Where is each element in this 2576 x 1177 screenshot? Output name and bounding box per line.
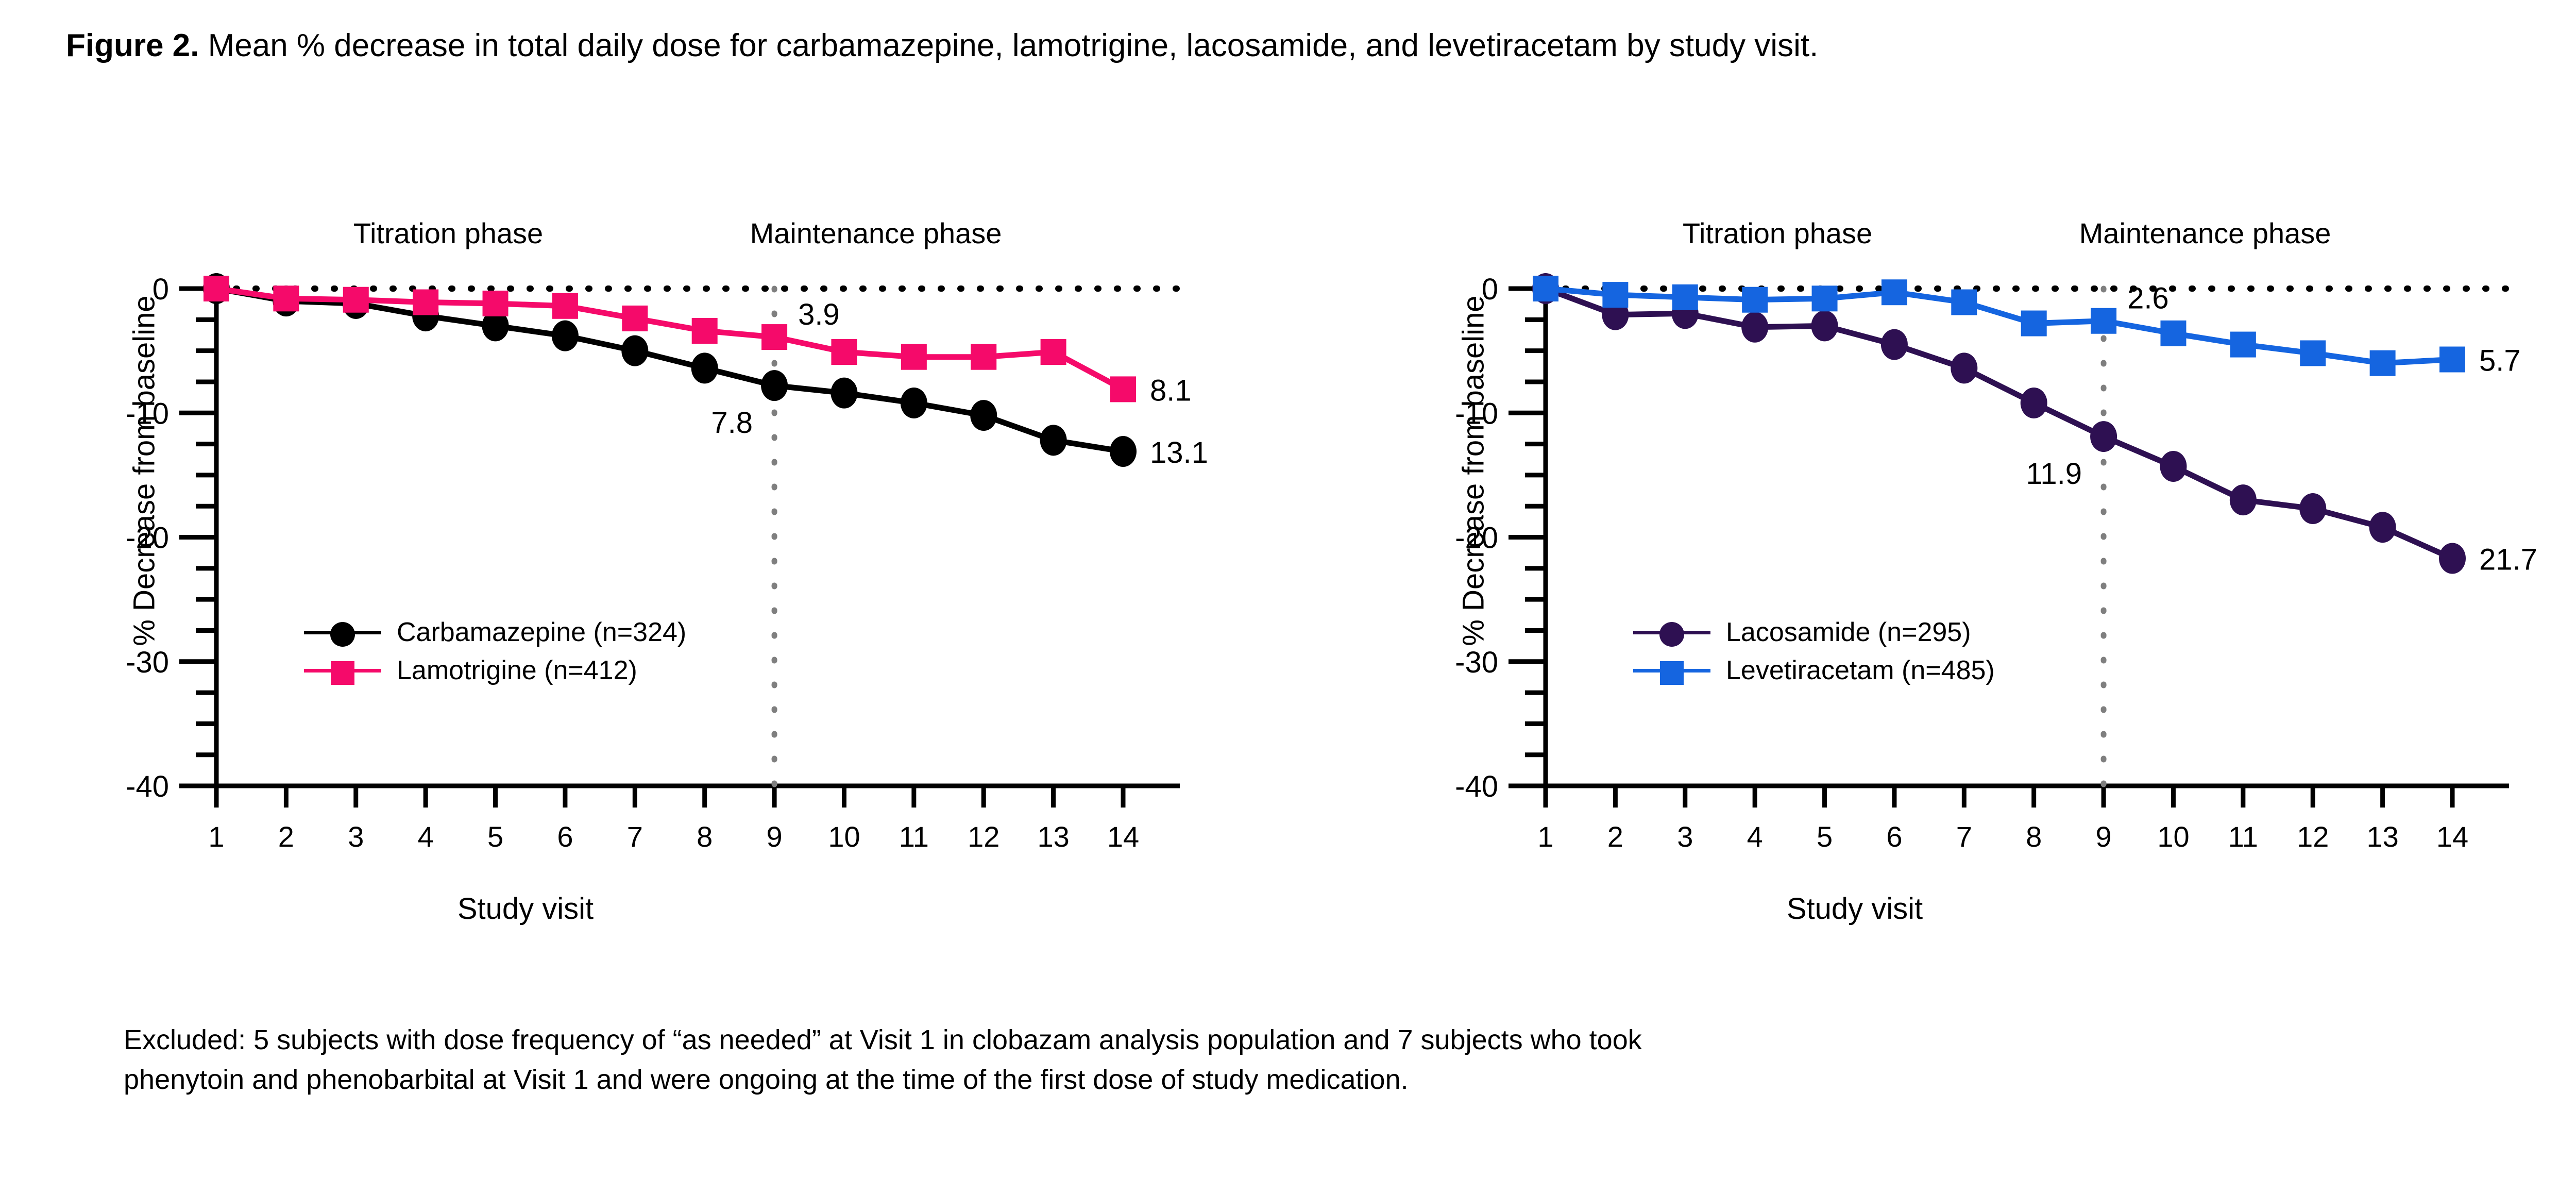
data-point-marker: [273, 285, 299, 311]
data-point-marker: [1741, 312, 1768, 343]
x-tick-label: 4: [1747, 820, 1763, 853]
y-tick-label: -40: [126, 770, 169, 803]
data-point-marker: [692, 318, 718, 344]
x-tick-label: 12: [968, 820, 999, 853]
data-point-marker: [761, 370, 788, 401]
footnote: Excluded: 5 subjects with dose frequency…: [124, 1020, 2494, 1099]
data-point-marker: [2439, 543, 2466, 574]
data-point-marker: [2300, 340, 2326, 366]
line-chart-right: 0-10-20-30-4012345678910111213142.611.95…: [1391, 216, 2576, 912]
data-point-marker: [1041, 339, 1066, 365]
data-point-marker: [2370, 350, 2396, 376]
data-point-marker: [2230, 484, 2257, 515]
x-tick-label: 2: [1607, 820, 1623, 853]
legend-label-lacosamide: Lacosamide (n=295): [1726, 617, 1971, 648]
data-point-marker: [2021, 311, 2047, 337]
data-point-marker: [901, 388, 927, 418]
x-tick-label: 14: [2436, 820, 2468, 853]
figure-caption-text: Mean % decrease in total daily dose for …: [199, 28, 1818, 63]
x-tick-label: 3: [1677, 820, 1693, 853]
data-point-marker: [2439, 347, 2465, 373]
y-tick-label: -20: [1455, 522, 1498, 555]
legend-label-lamotrigine: Lamotrigine (n=412): [397, 655, 637, 686]
data-point-marker: [413, 290, 438, 315]
x-tick-label: 12: [2297, 820, 2329, 853]
x-tick-label: 1: [1537, 820, 1553, 853]
data-point-marker: [343, 287, 369, 313]
data-point-marker: [971, 344, 996, 370]
data-point-marker: [204, 276, 229, 301]
data-annotation: 8.1: [1150, 374, 1192, 407]
data-annotation: 21.7: [2479, 543, 2537, 577]
x-tick-label: 2: [278, 820, 294, 853]
data-point-marker: [1881, 329, 1908, 360]
x-tick-label: 10: [828, 820, 860, 853]
data-point-marker: [552, 293, 578, 319]
data-point-marker: [1602, 282, 1628, 308]
data-point-marker: [552, 321, 579, 351]
data-point-marker: [2160, 321, 2186, 346]
legend-symbol-circle-icon: [1633, 622, 1710, 643]
y-tick-label: 0: [152, 273, 169, 306]
plot-area-left: 0-10-20-30-4012345678910111213143.97.88.…: [62, 216, 1360, 912]
legend-item-lamotrigine[interactable]: Lamotrigine (n=412): [304, 651, 686, 690]
y-tick-label: -20: [126, 522, 169, 555]
data-point-marker: [1951, 352, 1977, 383]
data-point-marker: [831, 378, 857, 409]
data-annotation: 3.9: [798, 298, 840, 331]
footnote-line-2: phenytoin and phenobarbital at Visit 1 a…: [124, 1060, 2494, 1100]
data-point-marker: [1672, 284, 1698, 310]
chart-panel-left: Titration phase Maintenance phase % Decr…: [62, 216, 1360, 989]
data-point-marker: [1533, 276, 1558, 301]
x-tick-label: 13: [1037, 820, 1069, 853]
x-tick-label: 10: [2157, 820, 2189, 853]
data-point-marker: [2299, 493, 2326, 524]
x-tick-label: 3: [348, 820, 364, 853]
x-tick-label: 7: [1956, 820, 1972, 853]
data-annotation: 13.1: [1150, 436, 1208, 469]
data-point-marker: [1951, 290, 1977, 315]
data-annotation: 2.6: [2127, 282, 2169, 315]
legend-item-carbamazepine[interactable]: Carbamazepine (n=324): [304, 613, 686, 651]
x-tick-label: 5: [1817, 820, 1833, 853]
charts-container: Titration phase Maintenance phase % Decr…: [0, 216, 2576, 989]
legend-label-levetiracetam: Levetiracetam (n=485): [1726, 655, 1995, 686]
x-tick-label: 6: [1886, 820, 1902, 853]
legend-symbol-square-icon: [1633, 660, 1710, 681]
y-tick-label: -10: [126, 397, 169, 430]
data-point-marker: [761, 324, 787, 350]
data-point-marker: [970, 400, 997, 431]
data-point-marker: [483, 291, 509, 316]
y-tick-label: -10: [1455, 397, 1498, 430]
data-point-marker: [831, 339, 857, 365]
data-point-marker: [1742, 287, 1768, 313]
x-tick-label: 4: [418, 820, 434, 853]
y-tick-label: -40: [1455, 770, 1498, 803]
data-point-marker: [2160, 451, 2187, 482]
data-point-marker: [1110, 436, 1137, 467]
data-point-marker: [1110, 376, 1136, 402]
legend-item-levetiracetam[interactable]: Levetiracetam (n=485): [1633, 651, 1995, 690]
data-point-marker: [1812, 285, 1838, 311]
data-annotation: 7.8: [711, 406, 753, 440]
data-point-marker: [622, 306, 648, 331]
x-tick-label: 9: [766, 820, 782, 853]
legend-right: Lacosamide (n=295) Levetiracetam (n=485): [1633, 613, 1995, 690]
x-tick-label: 9: [2095, 820, 2111, 853]
data-point-marker: [2021, 388, 2047, 418]
data-point-marker: [1040, 425, 1067, 456]
x-tick-label: 8: [697, 820, 713, 853]
data-point-marker: [691, 352, 718, 383]
data-point-marker: [2090, 421, 2117, 452]
legend-symbol-circle-icon: [304, 622, 381, 643]
legend-item-lacosamide[interactable]: Lacosamide (n=295): [1633, 613, 1995, 651]
line-chart-left: 0-10-20-30-4012345678910111213143.97.88.…: [62, 216, 1360, 912]
data-point-marker: [1811, 310, 1838, 341]
x-tick-label: 14: [1107, 820, 1139, 853]
x-tick-label: 7: [627, 820, 643, 853]
data-point-marker: [901, 344, 927, 370]
x-tick-label: 8: [2026, 820, 2042, 853]
x-tick-label: 13: [2366, 820, 2398, 853]
legend-left: Carbamazepine (n=324) Lamotrigine (n=412…: [304, 613, 686, 690]
figure-caption: Figure 2. Mean % decrease in total daily…: [66, 25, 2539, 67]
data-annotation: 5.7: [2479, 344, 2521, 378]
x-tick-label: 1: [208, 820, 224, 853]
data-annotation: 11.9: [2026, 457, 2082, 491]
y-tick-label: -30: [1455, 646, 1498, 679]
x-tick-label: 11: [2228, 820, 2258, 853]
y-tick-label: -30: [126, 646, 169, 679]
chart-panel-right: Titration phase Maintenance phase % Decr…: [1391, 216, 2576, 989]
data-point-marker: [2369, 512, 2396, 543]
figure-label: Figure 2.: [66, 28, 199, 63]
x-tick-label: 11: [899, 820, 929, 853]
y-tick-label: 0: [1482, 273, 1498, 306]
footnote-line-1: Excluded: 5 subjects with dose frequency…: [124, 1020, 2494, 1060]
data-point-marker: [621, 335, 648, 366]
x-tick-label: 5: [487, 820, 503, 853]
plot-area-right: 0-10-20-30-4012345678910111213142.611.95…: [1391, 216, 2576, 912]
x-tick-label: 6: [557, 820, 573, 853]
data-point-marker: [1882, 279, 1907, 305]
data-point-marker: [2230, 332, 2256, 358]
data-point-marker: [2091, 308, 2116, 334]
legend-symbol-square-icon: [304, 660, 381, 681]
legend-label-carbamazepine: Carbamazepine (n=324): [397, 617, 686, 648]
